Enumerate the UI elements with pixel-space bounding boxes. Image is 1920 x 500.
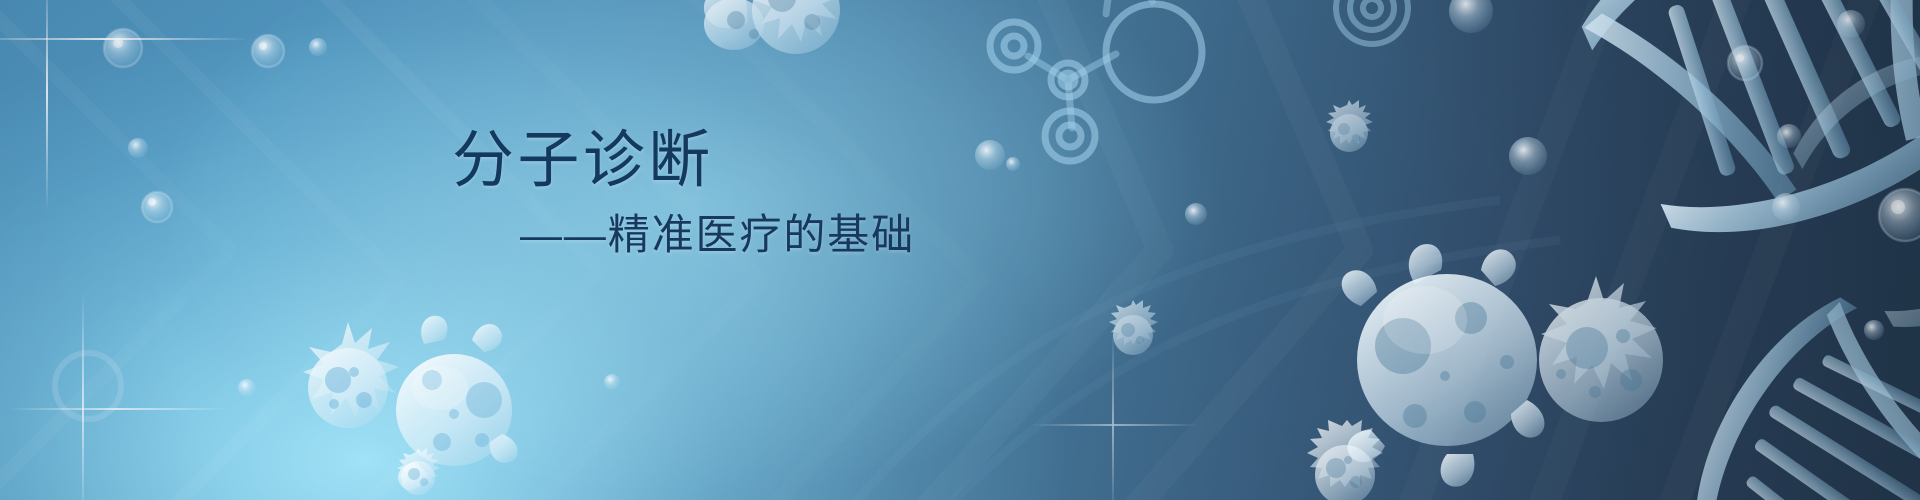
molecular-diagnostics-banner: 分子诊断 ——精准医疗的基础 [0,0,1920,500]
banner-text-block: 分子诊断 ——精准医疗的基础 [452,128,1212,259]
banner-title: 分子诊断 [452,128,1212,193]
banner-subtitle: ——精准医疗的基础 [452,211,1212,259]
